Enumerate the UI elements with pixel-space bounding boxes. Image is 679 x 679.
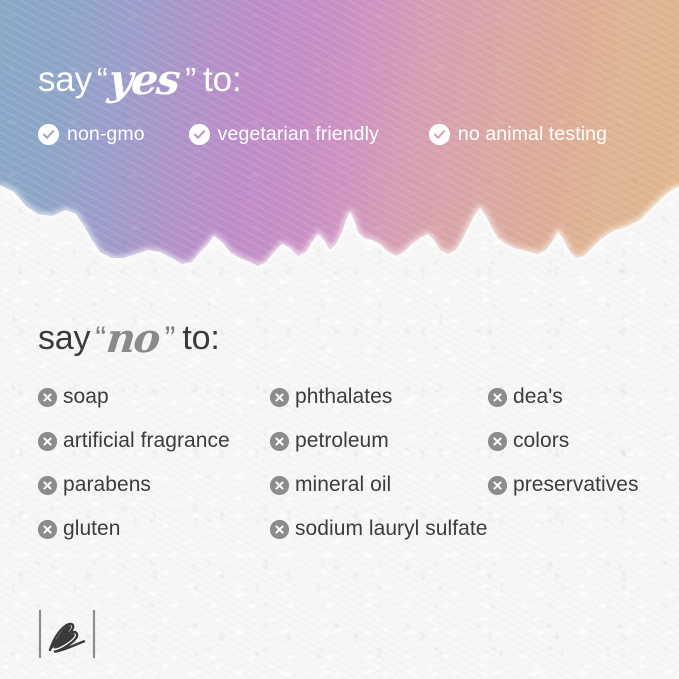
yes-list-item: non-gmo: [38, 123, 145, 146]
x-circle-icon: [270, 520, 289, 539]
x-circle-icon: [38, 388, 57, 407]
no-list-item: parabens: [38, 473, 270, 497]
no-heading-close-quote: ”: [165, 320, 176, 357]
x-circle-icon: [38, 520, 57, 539]
no-list-item: phthalates: [270, 385, 488, 409]
no-list-item-label: soap: [63, 385, 109, 409]
yes-heading-close-quote: ”: [185, 61, 196, 99]
no-list-item: gluten: [38, 517, 270, 541]
watercolor-gradient-banner: [0, 0, 679, 300]
no-list-item-label: dea's: [513, 385, 563, 409]
no-heading-suffix: to:: [182, 319, 219, 358]
no-section: say “ no ” to: soap: [38, 312, 658, 541]
yes-claims-list: non-gmo vegetarian friendly: [38, 123, 658, 146]
check-circle-icon: [189, 124, 210, 145]
yes-heading-prefix: say: [38, 60, 92, 100]
x-circle-icon: [488, 432, 507, 451]
no-list-item: preservatives: [488, 473, 658, 497]
x-circle-icon: [488, 388, 507, 407]
check-circle-icon: [38, 124, 59, 145]
x-circle-icon: [270, 388, 289, 407]
no-list-item-label: phthalates: [295, 385, 392, 409]
no-list-item: artificial fragrance: [38, 429, 270, 453]
product-claims-graphic: say “ yes ” to: non-gmo: [0, 0, 679, 679]
no-list-item: soap: [38, 385, 270, 409]
no-list-item-label: sodium lauryl sulfate: [295, 517, 487, 541]
no-list-item: petroleum: [270, 429, 488, 453]
x-circle-icon: [488, 476, 507, 495]
no-heading-prefix: say: [38, 319, 90, 358]
yes-section: say “ yes ” to: non-gmo: [38, 52, 658, 146]
x-circle-icon: [270, 476, 289, 495]
no-list-item-label: mineral oil: [295, 473, 391, 497]
x-circle-icon: [38, 476, 57, 495]
yes-list-item: no animal testing: [429, 123, 607, 146]
yes-heading-suffix: to:: [203, 60, 241, 100]
x-circle-icon: [270, 432, 289, 451]
no-list-item: sodium lauryl sulfate: [270, 517, 488, 541]
check-circle-icon: [429, 124, 450, 145]
yes-list-item-label: no animal testing: [458, 123, 607, 146]
no-list-item-label: artificial fragrance: [63, 429, 230, 453]
no-heading: say “ no ” to:: [38, 312, 658, 359]
no-list-item: colors: [488, 429, 658, 453]
no-list-item-label: gluten: [63, 517, 121, 541]
yes-heading-emphasis: yes: [106, 55, 181, 104]
no-list-item-label: colors: [513, 429, 569, 453]
yes-list-item: vegetarian friendly: [189, 123, 379, 146]
no-list-item-label: preservatives: [513, 473, 639, 497]
script-h-monogram-icon: [50, 624, 84, 652]
no-heading-emphasis: no: [104, 315, 161, 362]
no-list-item-label: petroleum: [295, 429, 389, 453]
yes-heading: say “ yes ” to:: [38, 52, 658, 101]
no-list-item: mineral oil: [270, 473, 488, 497]
yes-list-item-label: vegetarian friendly: [218, 123, 379, 146]
yes-list-item-label: non-gmo: [67, 123, 145, 146]
no-list-item-label: parabens: [63, 473, 151, 497]
no-claims-grid: soap phthalates dea's: [38, 385, 658, 541]
brand-logo: [38, 608, 100, 660]
x-circle-icon: [38, 432, 57, 451]
no-list-item: dea's: [488, 385, 658, 409]
